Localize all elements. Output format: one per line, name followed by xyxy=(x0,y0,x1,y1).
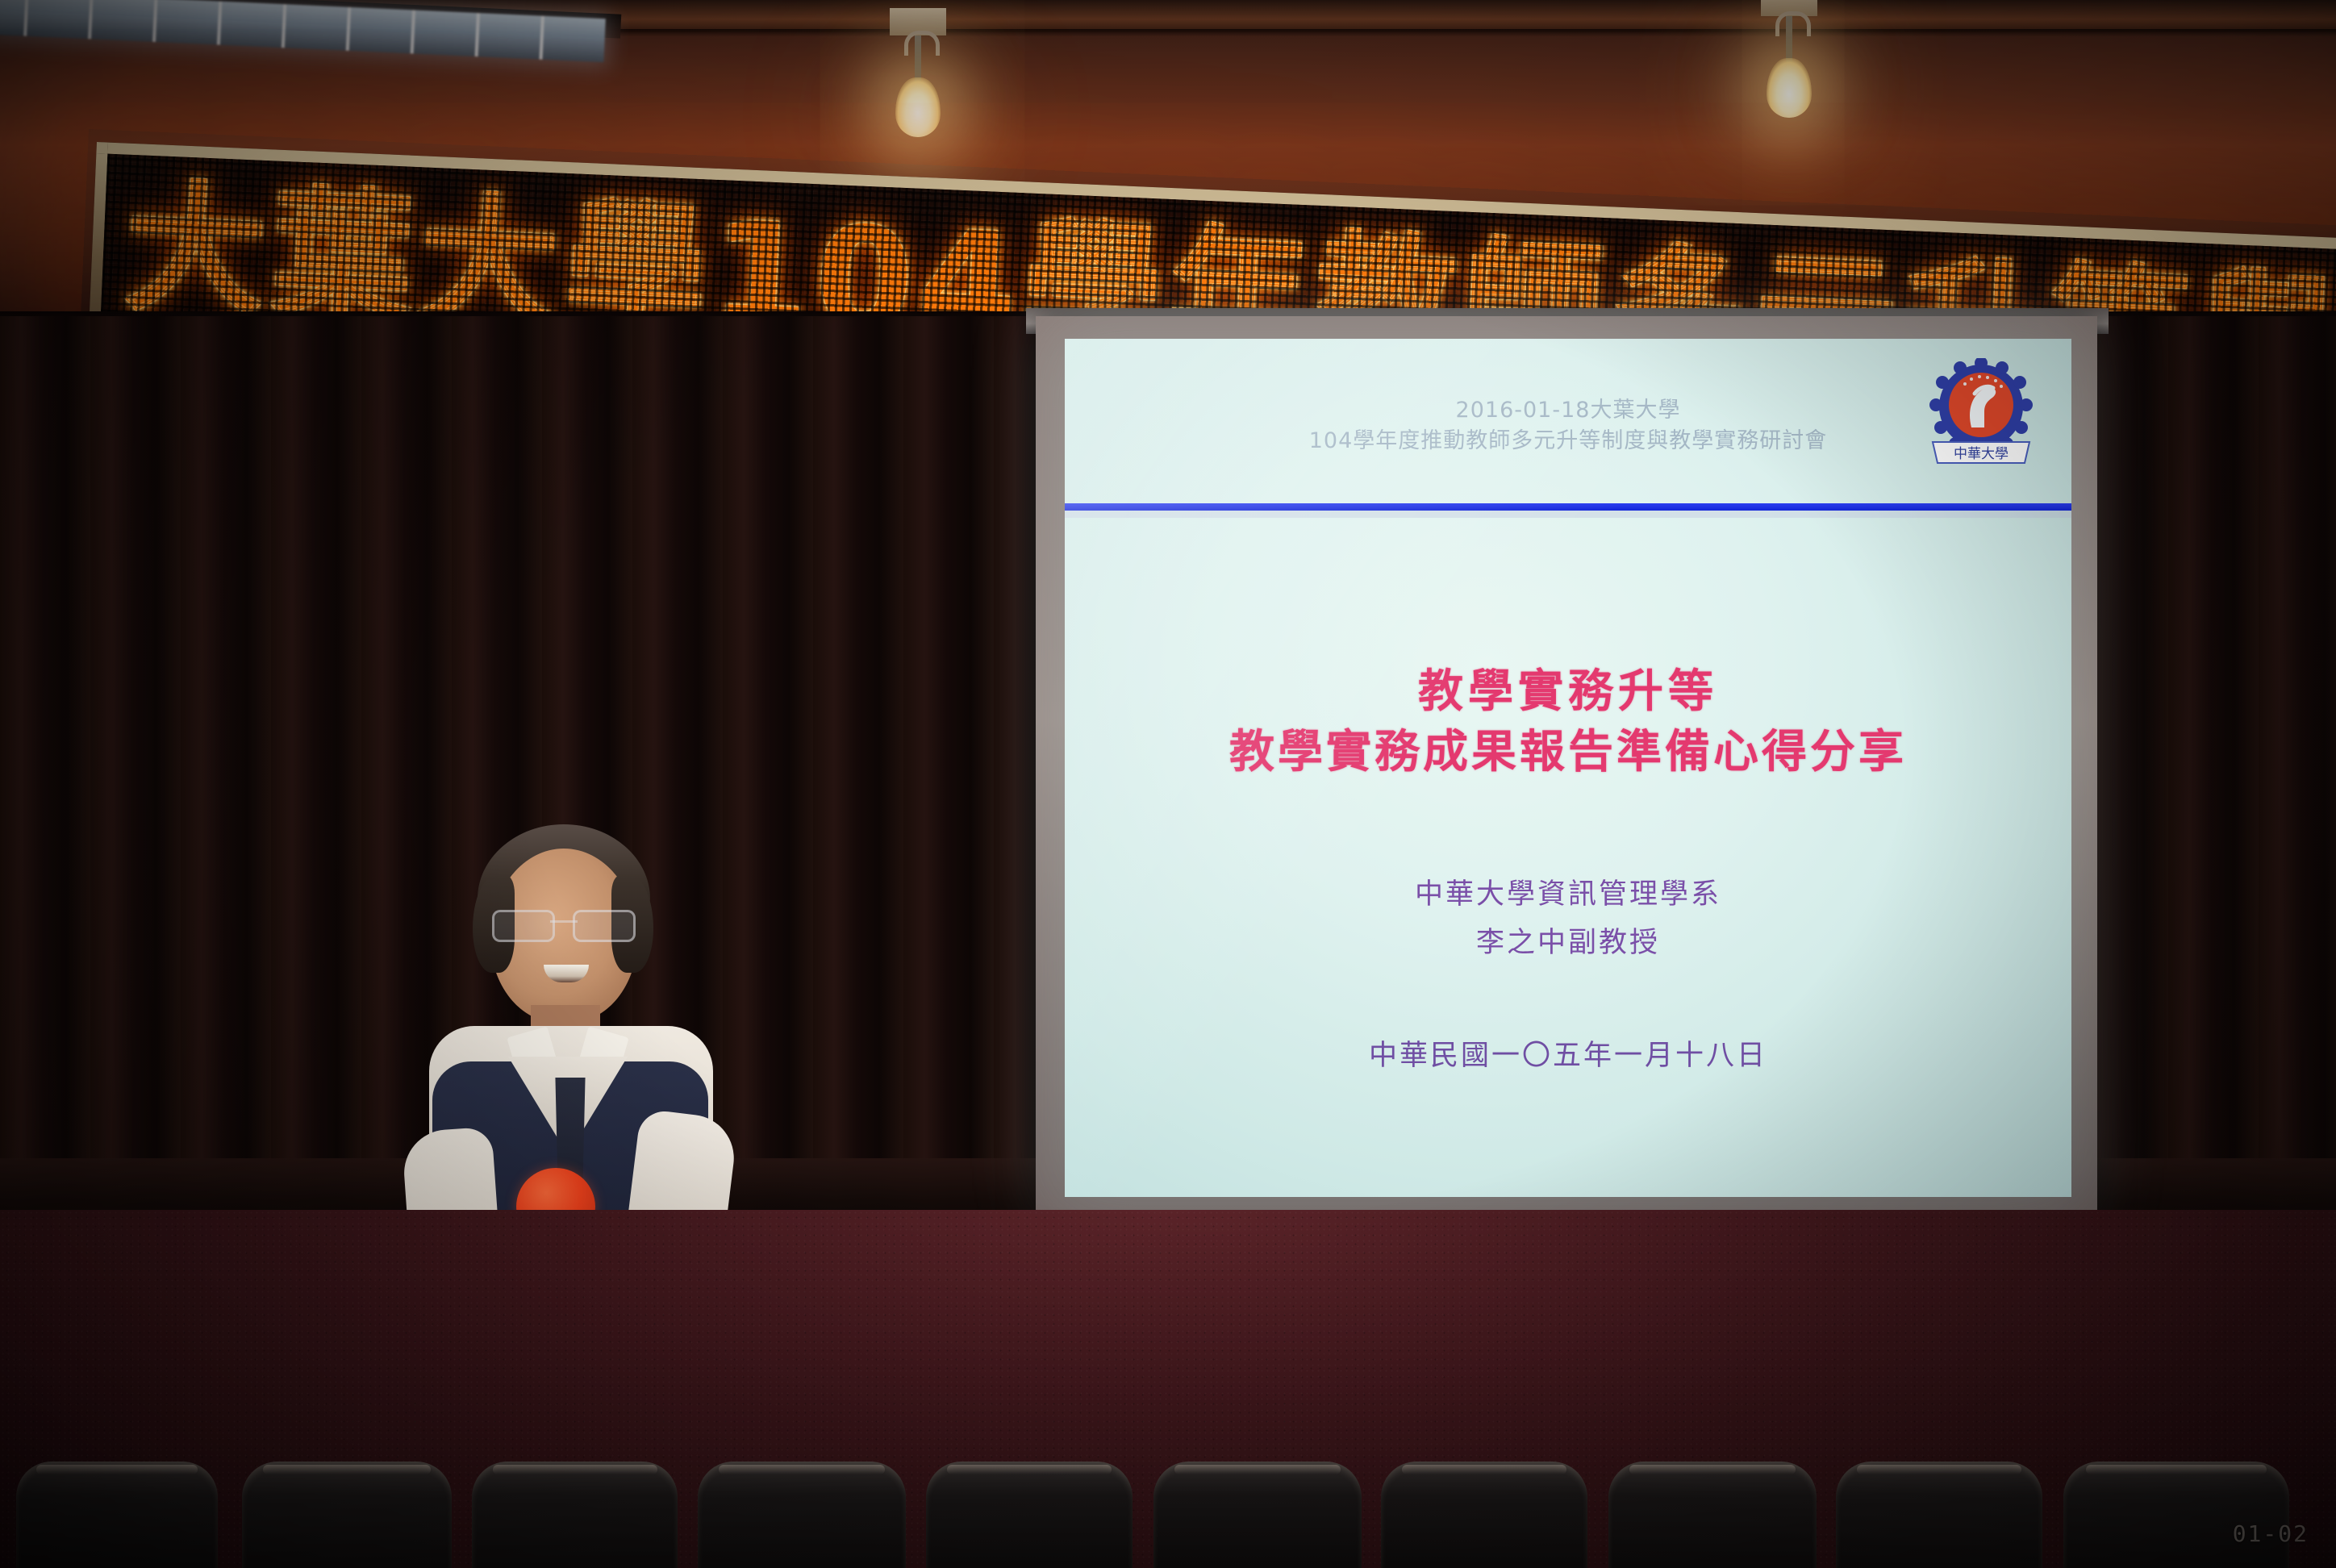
slide-divider-rule xyxy=(1065,503,2071,511)
lamp-bulb-left xyxy=(895,77,941,137)
slide-author-name: 李之中副教授 xyxy=(1065,920,2071,968)
glasses-lens-left xyxy=(492,910,555,942)
lamp-hook-right xyxy=(1775,11,1811,36)
projection-screen: 2016-01-18大葉大學 104學年度推動教師多元升等制度與教學實務研討會 xyxy=(1065,339,2071,1197)
slide-title-line2: 教學實務成果報告準備心得分享 xyxy=(1065,722,2071,782)
slide-author-block: 中華大學資訊管理學系 李之中副教授 xyxy=(1065,871,2071,967)
auditorium-photo: 大葉大學104學年教師多元升等與 2016-01-18大葉大學 104學年度推動… xyxy=(0,0,2336,1568)
slide-header-line1: 2016-01-18大葉大學 xyxy=(1065,395,2071,426)
auditorium-seat xyxy=(472,1462,678,1568)
auditorium-seat xyxy=(2063,1462,2289,1568)
slide-title-line1: 教學實務升等 xyxy=(1065,661,2071,722)
lamp-hook-left xyxy=(904,31,940,56)
university-crest-logo: 中華大學 xyxy=(1926,358,2036,471)
auditorium-seat xyxy=(1381,1462,1587,1568)
lamp-bulb-right xyxy=(1767,58,1812,118)
slide-date: 中華民國一〇五年一月十八日 xyxy=(1065,1032,2071,1074)
slide-header-line2: 104學年度推動教師多元升等制度與教學實務研討會 xyxy=(1065,426,2071,457)
slide-title: 教學實務升等 教學實務成果報告準備心得分享 xyxy=(1065,661,2071,782)
slide-author-affiliation: 中華大學資訊管理學系 xyxy=(1065,871,2071,920)
presenter-glasses xyxy=(492,910,636,939)
glasses-lens-right xyxy=(573,910,636,942)
auditorium-seat xyxy=(1608,1462,1817,1568)
camera-timestamp-overlay: 01-02 xyxy=(2233,1520,2309,1547)
auditorium-seat xyxy=(242,1462,452,1568)
slide-header: 2016-01-18大葉大學 104學年度推動教師多元升等制度與教學實務研討會 xyxy=(1065,395,2071,457)
auditorium-seat xyxy=(926,1462,1133,1568)
auditorium-seat xyxy=(1153,1462,1362,1568)
auditorium-seat xyxy=(1836,1462,2042,1568)
auditorium-seat xyxy=(16,1462,218,1568)
auditorium-seat xyxy=(698,1462,906,1568)
logo-caption-text: 中華大學 xyxy=(1954,446,2009,462)
